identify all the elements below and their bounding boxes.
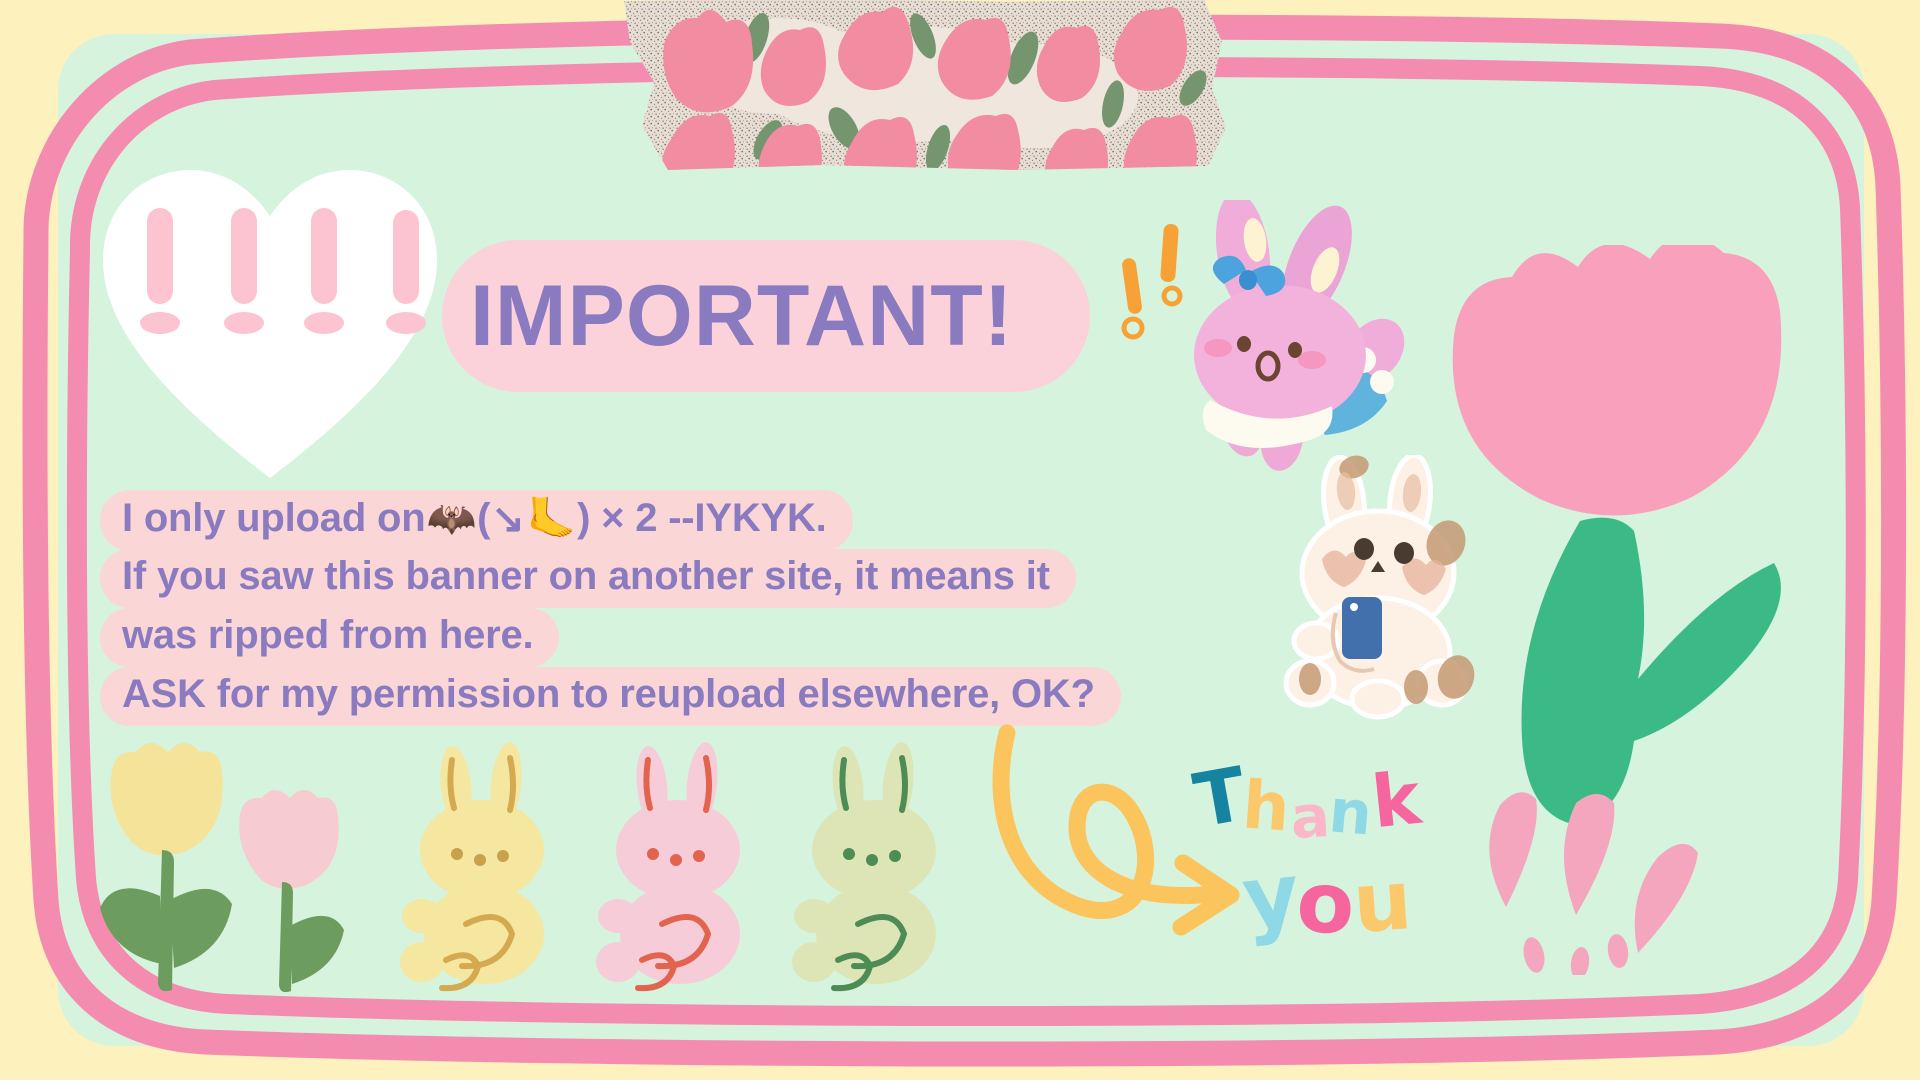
- washi-tape-tulip-pattern: [608, 0, 1248, 176]
- pink-gummy-bunny: [596, 741, 740, 988]
- down-right-arrow-icon: ↘: [491, 496, 524, 542]
- body-line-row: ASK for my permission to reupload elsewh…: [100, 667, 1121, 726]
- gummy-bunny-trio: [400, 738, 970, 994]
- body-line-row: If you saw this banner on another site, …: [100, 549, 1121, 608]
- tulip-yellow: [100, 743, 232, 991]
- thank-word: Thank: [1195, 755, 1420, 841]
- body-line-4-text-1: ASK for my permission to reupload elsewh…: [122, 672, 1095, 717]
- body-text-block: I only upload on 🦇(↘🦶) × 2 --IYKYK.If yo…: [100, 490, 1121, 726]
- body-line-1-text-1: I only upload on: [122, 496, 425, 541]
- you-word: you: [1243, 847, 1411, 947]
- tulip-pink: [239, 790, 344, 992]
- foot-emoji: 🦶: [527, 495, 577, 542]
- body-line-1: I only upload on 🦇(↘🦶) × 2 --IYKYK.: [100, 490, 853, 551]
- green-gummy-bunny: [792, 741, 936, 988]
- body-line-2: If you saw this banner on another site, …: [100, 549, 1076, 608]
- body-line-2-text-1: If you saw this banner on another site, …: [122, 554, 1050, 599]
- phone-icon: [1342, 597, 1382, 659]
- bat-emoji: 🦇: [426, 495, 476, 542]
- you-word-letter-u: u: [1350, 853, 1415, 952]
- body-line-3-text-1: was ripped from here.: [122, 613, 533, 658]
- body-line-row: I only upload on 🦇(↘🦶) × 2 --IYKYK.: [100, 490, 1121, 549]
- thank-you-lettering: Thankyou: [1195, 755, 1525, 970]
- thank-word-letter-n: n: [1326, 776, 1375, 849]
- banner-canvas: IMPORTANT! I only upload on 🦇(↘🦶) × 2 --…: [0, 0, 1920, 1080]
- body-line-row: was ripped from here.: [100, 608, 1121, 667]
- body-line-1-text-6: ) × 2 --IYKYK.: [577, 496, 826, 541]
- body-line-1-text-3: (: [477, 496, 490, 541]
- page-title: IMPORTANT!: [470, 243, 1070, 389]
- small-tulip-pair: [88, 740, 358, 995]
- white-heart-with-exclamations: [95, 148, 445, 488]
- body-line-4: ASK for my permission to reupload elsewh…: [100, 667, 1121, 726]
- you-word-letter-o: o: [1294, 853, 1357, 954]
- thank-word-letter-h: h: [1240, 766, 1292, 846]
- yellow-gummy-bunny: [400, 741, 544, 988]
- thank-word-letter-k: k: [1368, 756, 1424, 845]
- body-line-3: was ripped from here.: [100, 608, 559, 667]
- exclamation-marks-icon: [1121, 224, 1180, 337]
